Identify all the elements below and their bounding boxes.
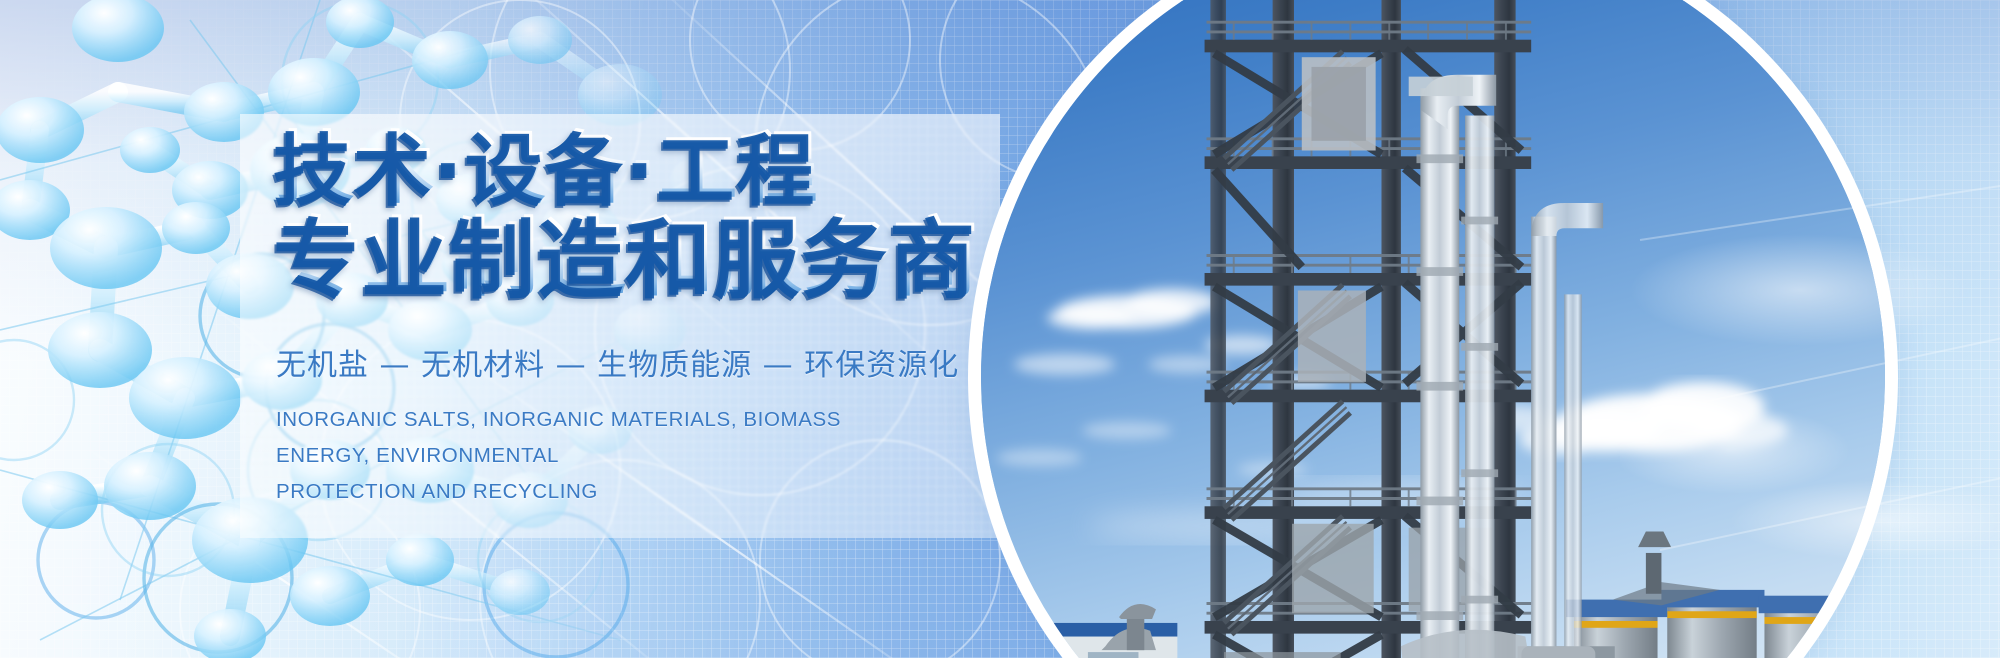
headline-line-2: 专业制造和服务商 (276, 213, 1056, 304)
headline-line-1: 技术·设备·工程 (276, 128, 1056, 211)
circular-photo-ring (968, 0, 1898, 658)
industrial-plant-photo (981, 0, 1885, 658)
subtitle-english: INORGANIC SALTS, INORGANIC MATERIALS, BI… (276, 402, 936, 510)
subtitle-english-line-1: INORGANIC SALTS, INORGANIC MATERIALS, BI… (276, 402, 936, 474)
banner-copy: 技术·设备·工程 专业制造和服务商 无机盐 — 无机材料 — 生物质能源 — 环… (276, 128, 1056, 509)
subtitle-english-line-2: PROTECTION AND RECYCLING (276, 474, 936, 510)
plant-photo-artwork (981, 0, 1885, 658)
subtitle-chinese: 无机盐 — 无机材料 — 生物质能源 — 环保资源化 (276, 340, 1056, 384)
hero-banner: 技术·设备·工程 专业制造和服务商 无机盐 — 无机材料 — 生物质能源 — 环… (0, 0, 2000, 658)
